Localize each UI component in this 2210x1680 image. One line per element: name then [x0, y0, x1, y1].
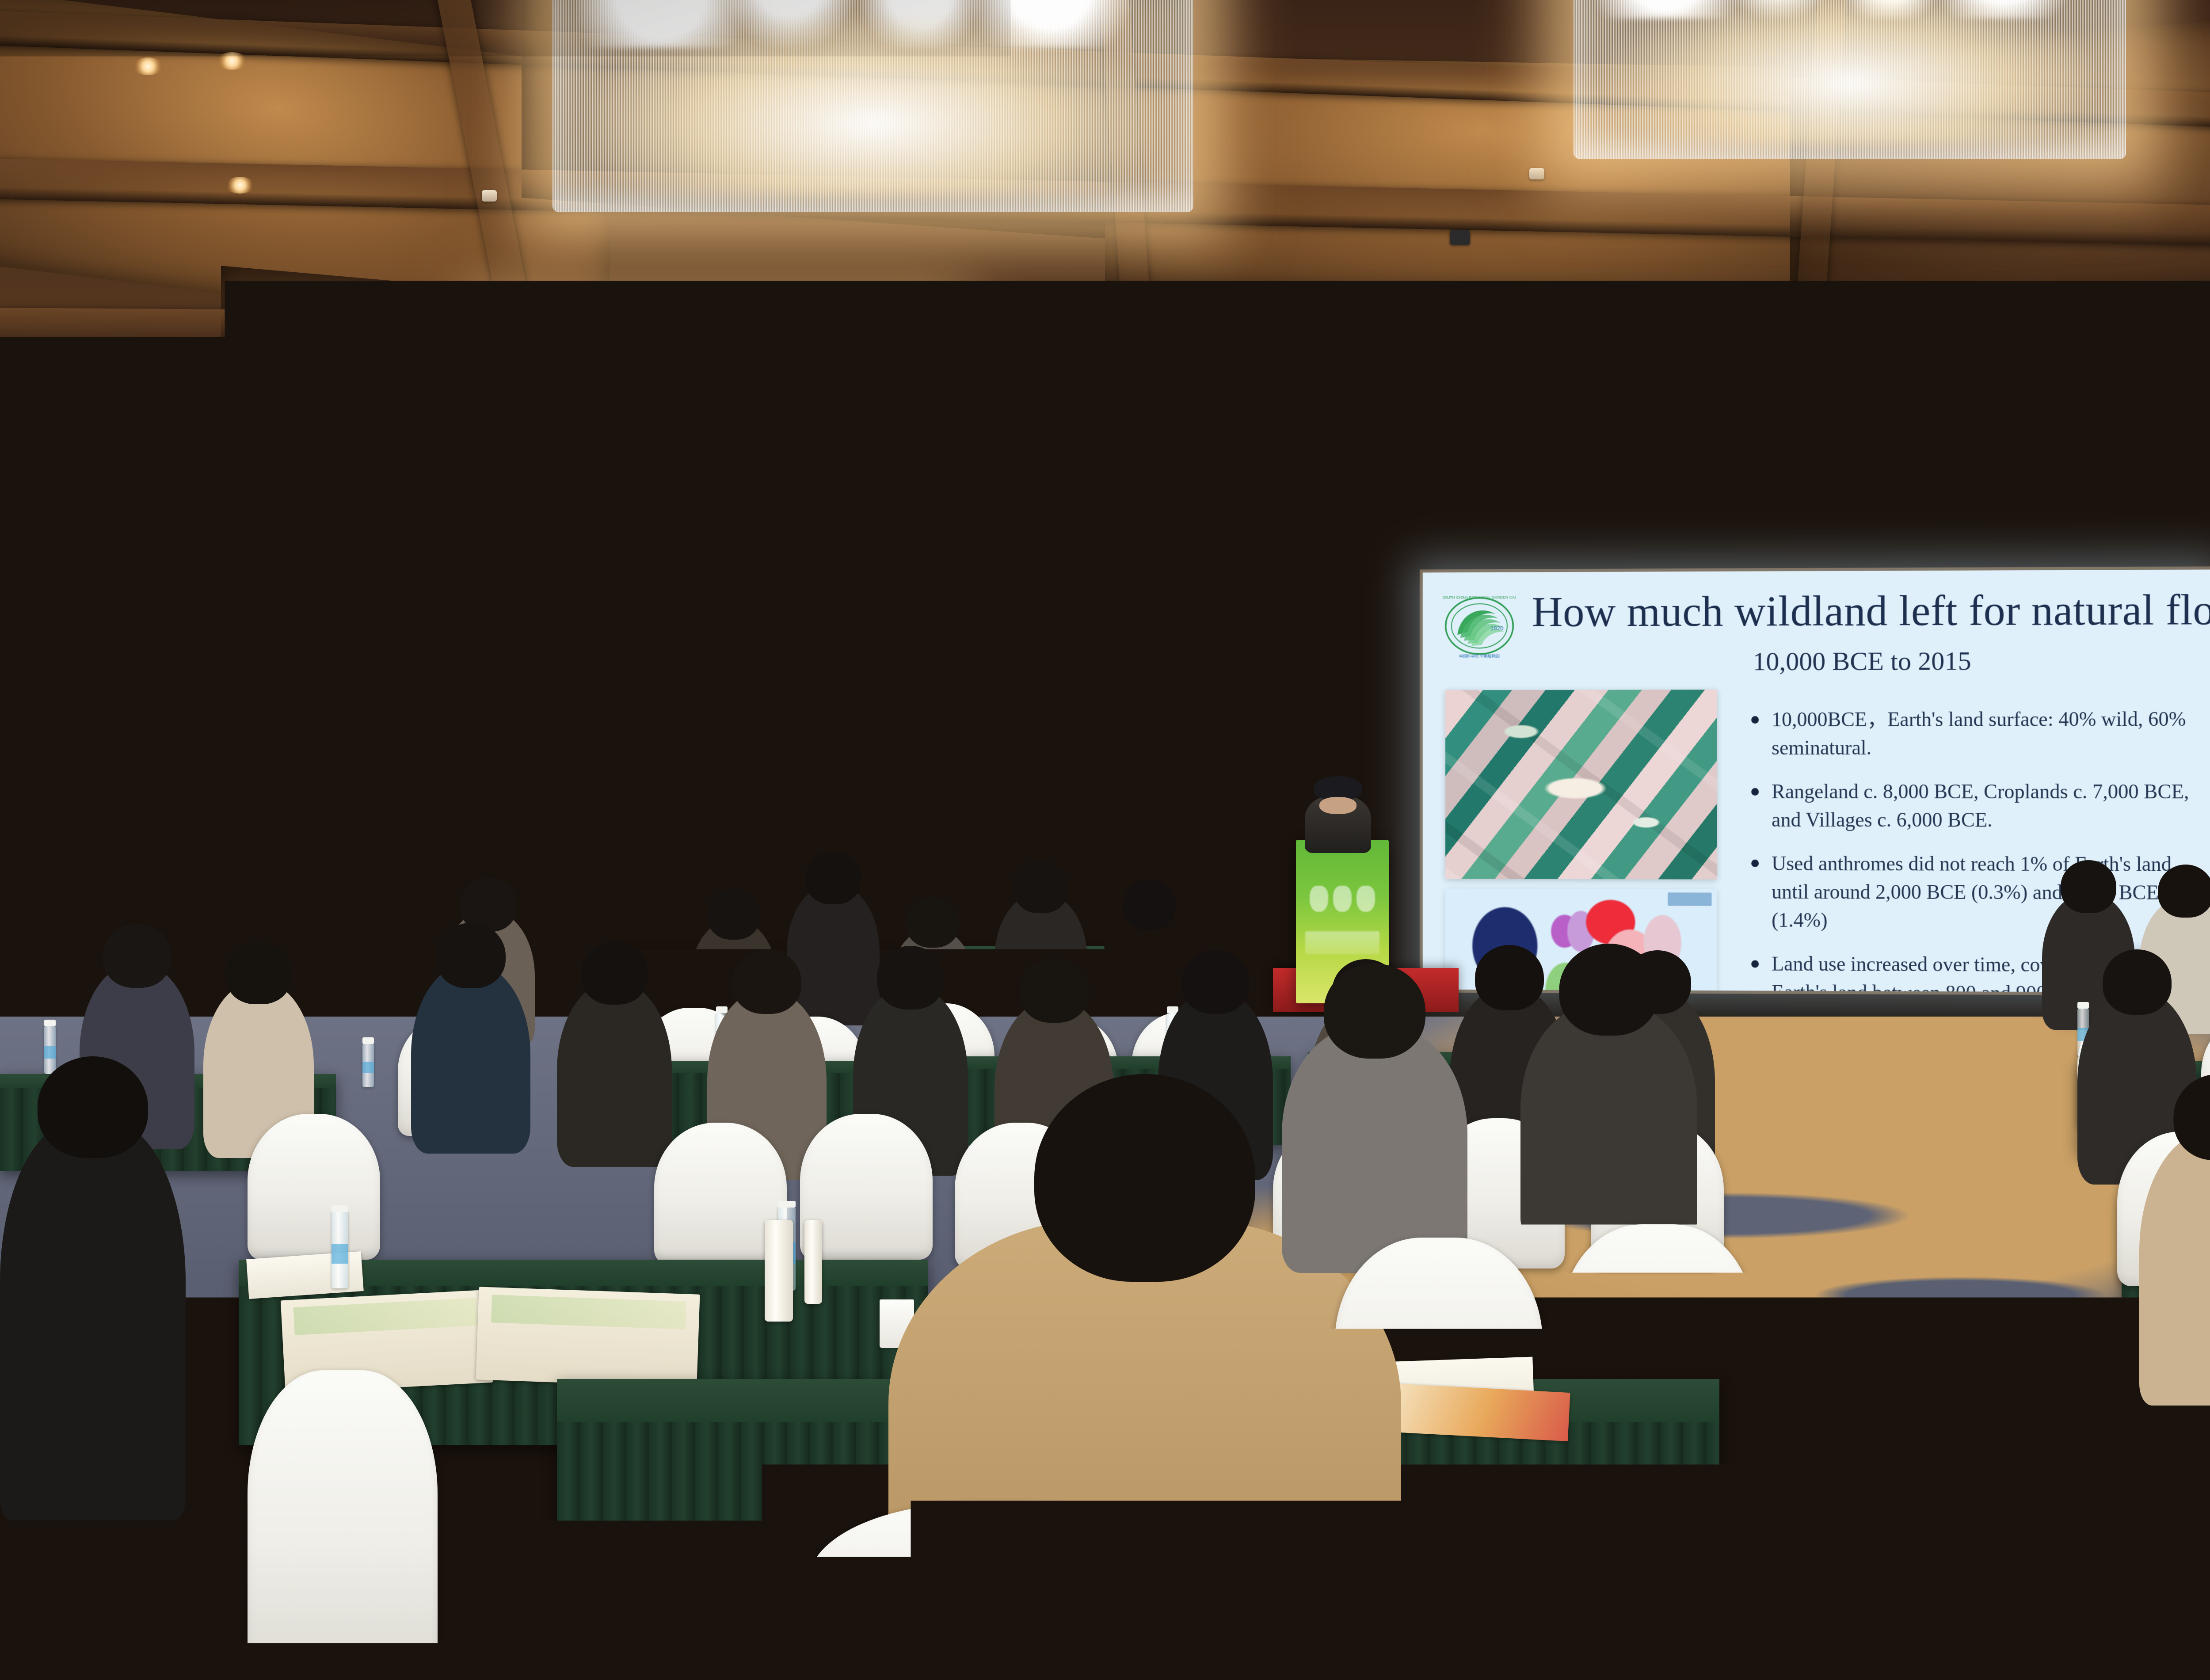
slide-title: How much wildland left for natural flora… — [1532, 588, 2196, 635]
water-bottle — [362, 1043, 374, 1087]
south-china-botanical-garden-logo: SOUTH CHINA BOTANICAL GARDEN CAS 1920 中国… — [1443, 589, 1516, 663]
chandelier — [1574, 0, 2126, 159]
smoke-detector-icon — [1529, 168, 1544, 179]
conference-tote-bag — [476, 1287, 700, 1387]
wall-sconce — [609, 628, 621, 791]
presenter — [1305, 796, 1371, 853]
slide-subtitle: 10,000 BCE to 2015 — [1532, 645, 2196, 677]
aerial-farmland-image — [1445, 690, 1717, 879]
audience-member — [557, 981, 672, 1167]
thermos-bottle — [804, 1220, 822, 1304]
chandelier — [499, 327, 933, 477]
chair — [1560, 1224, 1755, 1463]
chair — [809, 1503, 1189, 1680]
security-camera-icon — [1450, 230, 1470, 245]
svg-text:中国科学院 华南植物园: 中国科学院 华南植物园 — [1459, 654, 1500, 659]
svg-text:SOUTH CHINA BOTANICAL GARDEN C: SOUTH CHINA BOTANICAL GARDEN CAS — [1443, 595, 1516, 600]
audience-member — [411, 964, 530, 1154]
audience-member — [0, 1123, 186, 1520]
chair — [248, 1370, 438, 1680]
slide-bullet: 10,000BCE，Earth's land surface: 40% wild… — [1751, 705, 2198, 762]
slide-bullet: Used anthromes did not reach 1% of Earth… — [1751, 849, 2198, 936]
chandelier — [1087, 522, 1335, 548]
audience-member — [1520, 1003, 1697, 1242]
wall-sconce — [1084, 698, 1095, 827]
water-bottle — [331, 1211, 348, 1288]
slide-bullet: Rangeland c. 8,000 BCE, Croplands c. 7,0… — [1751, 777, 2198, 835]
thermos-bottle — [765, 1220, 793, 1322]
svg-text:1920: 1920 — [1490, 625, 1504, 632]
audience-member — [1282, 1025, 1467, 1273]
conference-hall-scene: SOUTH CHINA BOTANICAL GARDEN CAS 1920 中国… — [0, 0, 2210, 1680]
water-bottle — [44, 1025, 56, 1074]
ceiling — [0, 0, 2210, 548]
chandelier — [1786, 389, 2113, 513]
chandelier — [552, 0, 1193, 212]
chandelier — [1299, 433, 1649, 548]
chair — [1335, 1238, 1543, 1485]
audience-member — [787, 884, 880, 1025]
chair — [248, 1114, 380, 1260]
smoke-detector-icon — [482, 190, 497, 202]
